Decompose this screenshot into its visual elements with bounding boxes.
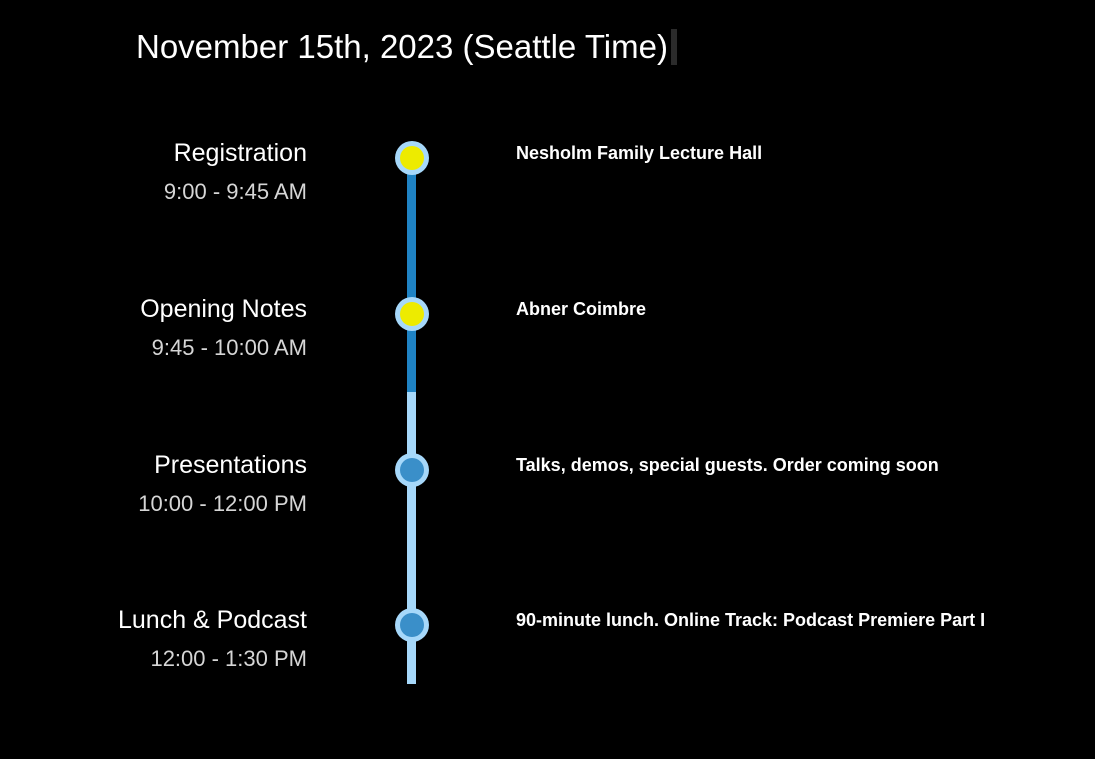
timeline-item-time: 12:00 - 1:30 PM — [0, 644, 307, 674]
timeline-item-time: 10:00 - 12:00 PM — [0, 489, 307, 519]
timeline-row[interactable]: Opening Notes 9:45 - 10:00 AM Abner Coim… — [0, 292, 1095, 448]
timeline-item-detail: Abner Coimbre — [516, 296, 646, 322]
timeline-row-left: Opening Notes 9:45 - 10:00 AM — [0, 292, 307, 363]
timeline-row[interactable]: Registration 9:00 - 9:45 AM Nesholm Fami… — [0, 136, 1095, 292]
timeline-row[interactable]: Lunch & Podcast 12:00 - 1:30 PM 90-minut… — [0, 603, 1095, 759]
timeline-item-detail: Talks, demos, special guests. Order comi… — [516, 452, 939, 478]
timeline-item-name: Registration — [0, 136, 307, 170]
schedule-timeline: Registration 9:00 - 9:45 AM Nesholm Fami… — [0, 0, 1095, 684]
timeline-item-time: 9:45 - 10:00 AM — [0, 333, 307, 363]
timeline-item-time: 9:00 - 9:45 AM — [0, 177, 307, 207]
timeline-row-left: Lunch & Podcast 12:00 - 1:30 PM — [0, 603, 307, 674]
timeline-item-name: Lunch & Podcast — [0, 603, 307, 637]
timeline-item-name: Opening Notes — [0, 292, 307, 326]
timeline-row[interactable]: Presentations 10:00 - 12:00 PM Talks, de… — [0, 448, 1095, 604]
timeline-item-name: Presentations — [0, 448, 307, 482]
timeline-row-left: Registration 9:00 - 9:45 AM — [0, 136, 307, 207]
timeline-item-detail: Nesholm Family Lecture Hall — [516, 140, 762, 166]
timeline-row-left: Presentations 10:00 - 12:00 PM — [0, 448, 307, 519]
timeline-item-detail: 90-minute lunch. Online Track: Podcast P… — [516, 607, 985, 633]
